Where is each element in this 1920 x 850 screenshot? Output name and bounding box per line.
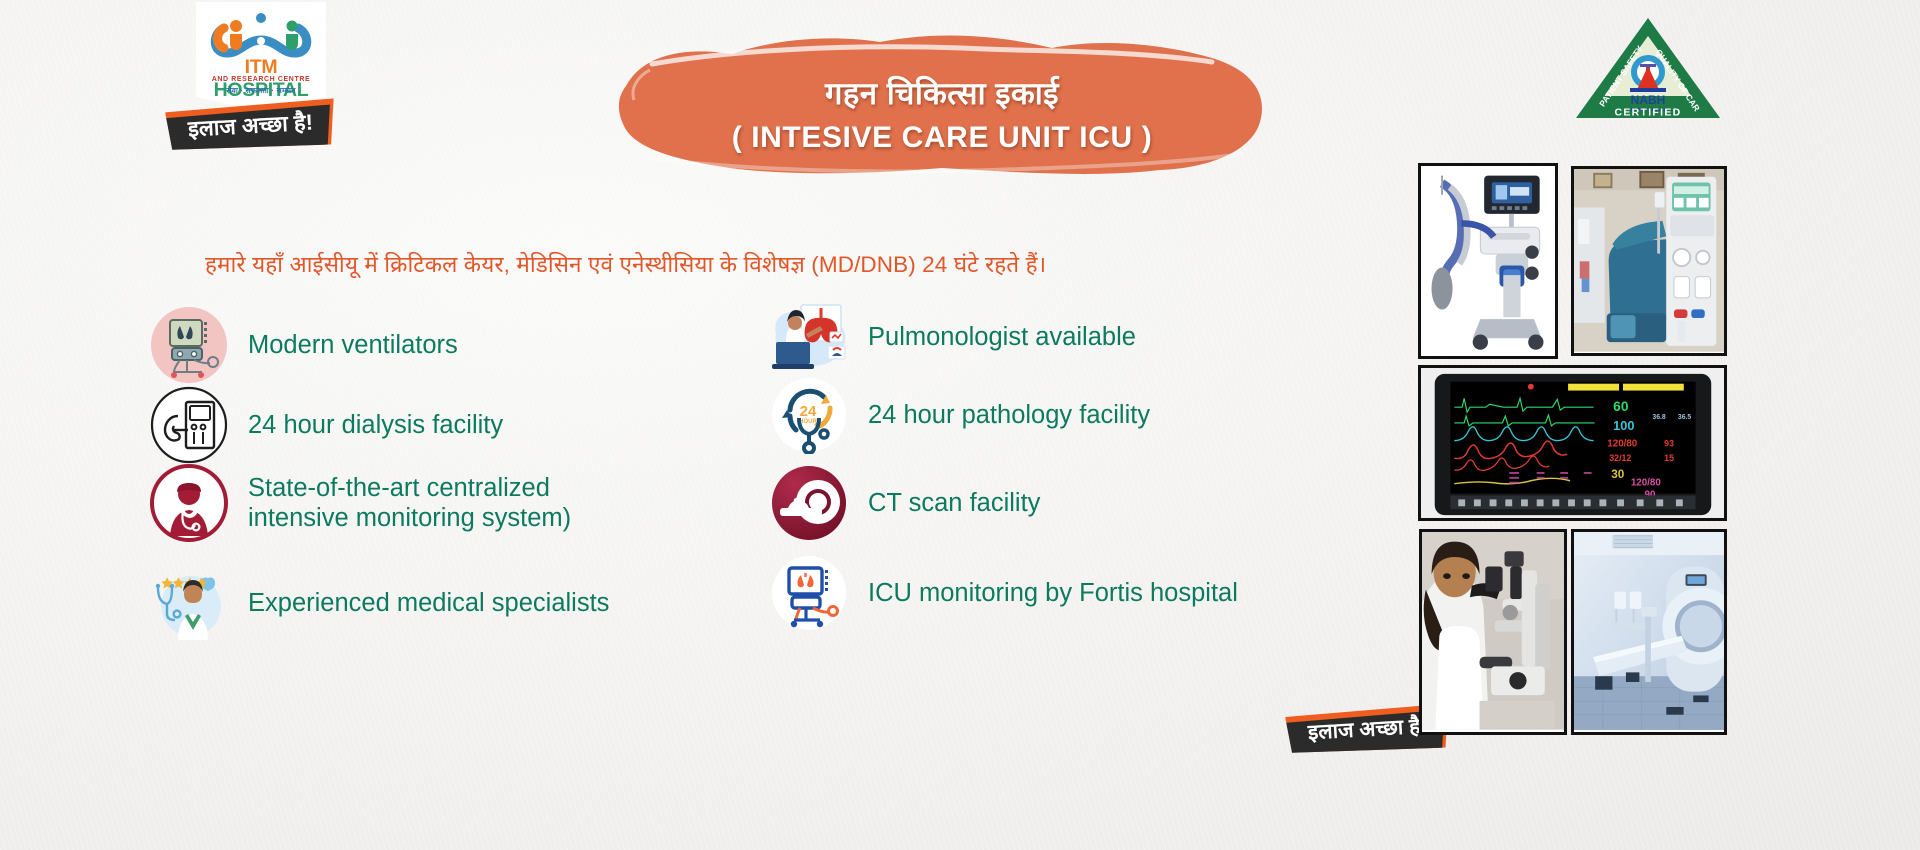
nabh-acronym-text: NABH [1631,93,1666,107]
svg-text:32/12: 32/12 [1609,453,1631,463]
dialysis-photo [1571,166,1727,356]
svg-text:120/80: 120/80 [1631,478,1662,489]
nabh-status-text: CERTIFIED [1614,107,1681,119]
feature-label: State-of-the-art centralized intensive m… [248,473,571,533]
ct-scanner-photo [1571,529,1727,735]
doctor-stethoscope-icon [150,464,228,542]
feature-item-icu-monitoring[interactable]: ICU monitoring by Fortis hospital [770,554,1238,632]
banner-text-block: गहन चिकित्सा इकाई ( INTESIVE CARE UNIT I… [612,72,1272,155]
feature-item-centralized-monitoring[interactable]: State-of-the-art centralized intensive m… [150,464,571,542]
feature-label: Experienced medical specialists [248,588,609,618]
intro-paragraph: हमारे यहाँ आईसीयू में क्रिटिकल केयर, मेड… [205,248,1265,279]
feature-item-experienced-specialists[interactable]: Experienced medical specialists [150,564,609,642]
svg-text:30: 30 [1611,468,1625,481]
feature-label: Modern ventilators [248,330,458,360]
feature-item-dialysis[interactable]: 24 hour dialysis facility [150,386,503,464]
svg-text:36.5: 36.5 [1678,414,1692,421]
photo-gallery: 60 100 120/80 93 32/12 15 30 120/80 90 3… [1418,163,1730,768]
svg-text:100: 100 [1613,418,1634,433]
icu-monitor-lungs-icon [770,554,848,632]
ct-scanner-icon [770,464,848,542]
24-hour-stethoscope-icon: 24 HOUR [770,376,848,454]
banner-title-english: ( INTESIVE CARE UNIT ICU ) [612,121,1272,155]
feature-item-pulmonologist[interactable]: Pulmonologist available [770,298,1136,376]
svg-text:93: 93 [1664,438,1674,448]
logo-word-itm: ITM [245,56,278,78]
svg-text:15: 15 [1664,453,1674,463]
itm-hospital-logo: ITM HOSPITAL AND RESEARCH CENTRE सेवा · … [196,2,326,112]
title-banner: गहन चिकित्सा इकाई ( INTESIVE CARE UNIT I… [612,28,1272,180]
feature-label: Pulmonologist available [868,322,1136,352]
feature-item-ct-scan[interactable]: CT scan facility [770,464,1040,542]
svg-text:HOUR: HOUR [799,419,817,425]
feature-label: CT scan facility [868,488,1040,518]
lungs-pulmonologist-icon [770,298,848,376]
banner-title-hindi: गहन चिकित्सा इकाई [612,72,1272,114]
logo-hindi-motto: सेवा · सफलता · सम्मान [196,86,326,96]
feature-label: ICU monitoring by Fortis hospital [868,578,1238,608]
doctor-rating-stars-icon [150,564,228,642]
logo-subtitle: AND RESEARCH CENTRE [196,76,326,83]
monitor-photo: 60 100 120/80 93 32/12 15 30 120/80 90 3… [1418,365,1727,521]
feature-label: 24 hour dialysis facility [248,410,503,440]
ventilator-machine-icon [150,306,228,384]
poster-canvas: ITM HOSPITAL AND RESEARCH CENTRE सेवा · … [0,0,1920,850]
feature-item-pathology[interactable]: 24 HOUR 24 hour pathology facility [770,376,1150,454]
ventilator-photo [1418,163,1558,359]
dialysis-kidney-machine-icon [150,386,228,464]
svg-text:36.8: 36.8 [1652,414,1666,421]
microscope-photo [1419,529,1567,735]
svg-text:60: 60 [1613,399,1629,414]
tagline-badge-top: इलाज अच्छा है! [165,98,336,153]
svg-text:120/80: 120/80 [1607,438,1638,449]
svg-text:24: 24 [800,403,817,420]
people-infinity-logo-icon [206,12,316,58]
feature-item-modern-ventilators[interactable]: Modern ventilators [150,306,458,384]
feature-label: 24 hour pathology facility [868,400,1150,430]
nabh-certified-badge-icon: PATIENT SAFETY & QUALITY OF CARE NABH (E… [1574,14,1722,122]
